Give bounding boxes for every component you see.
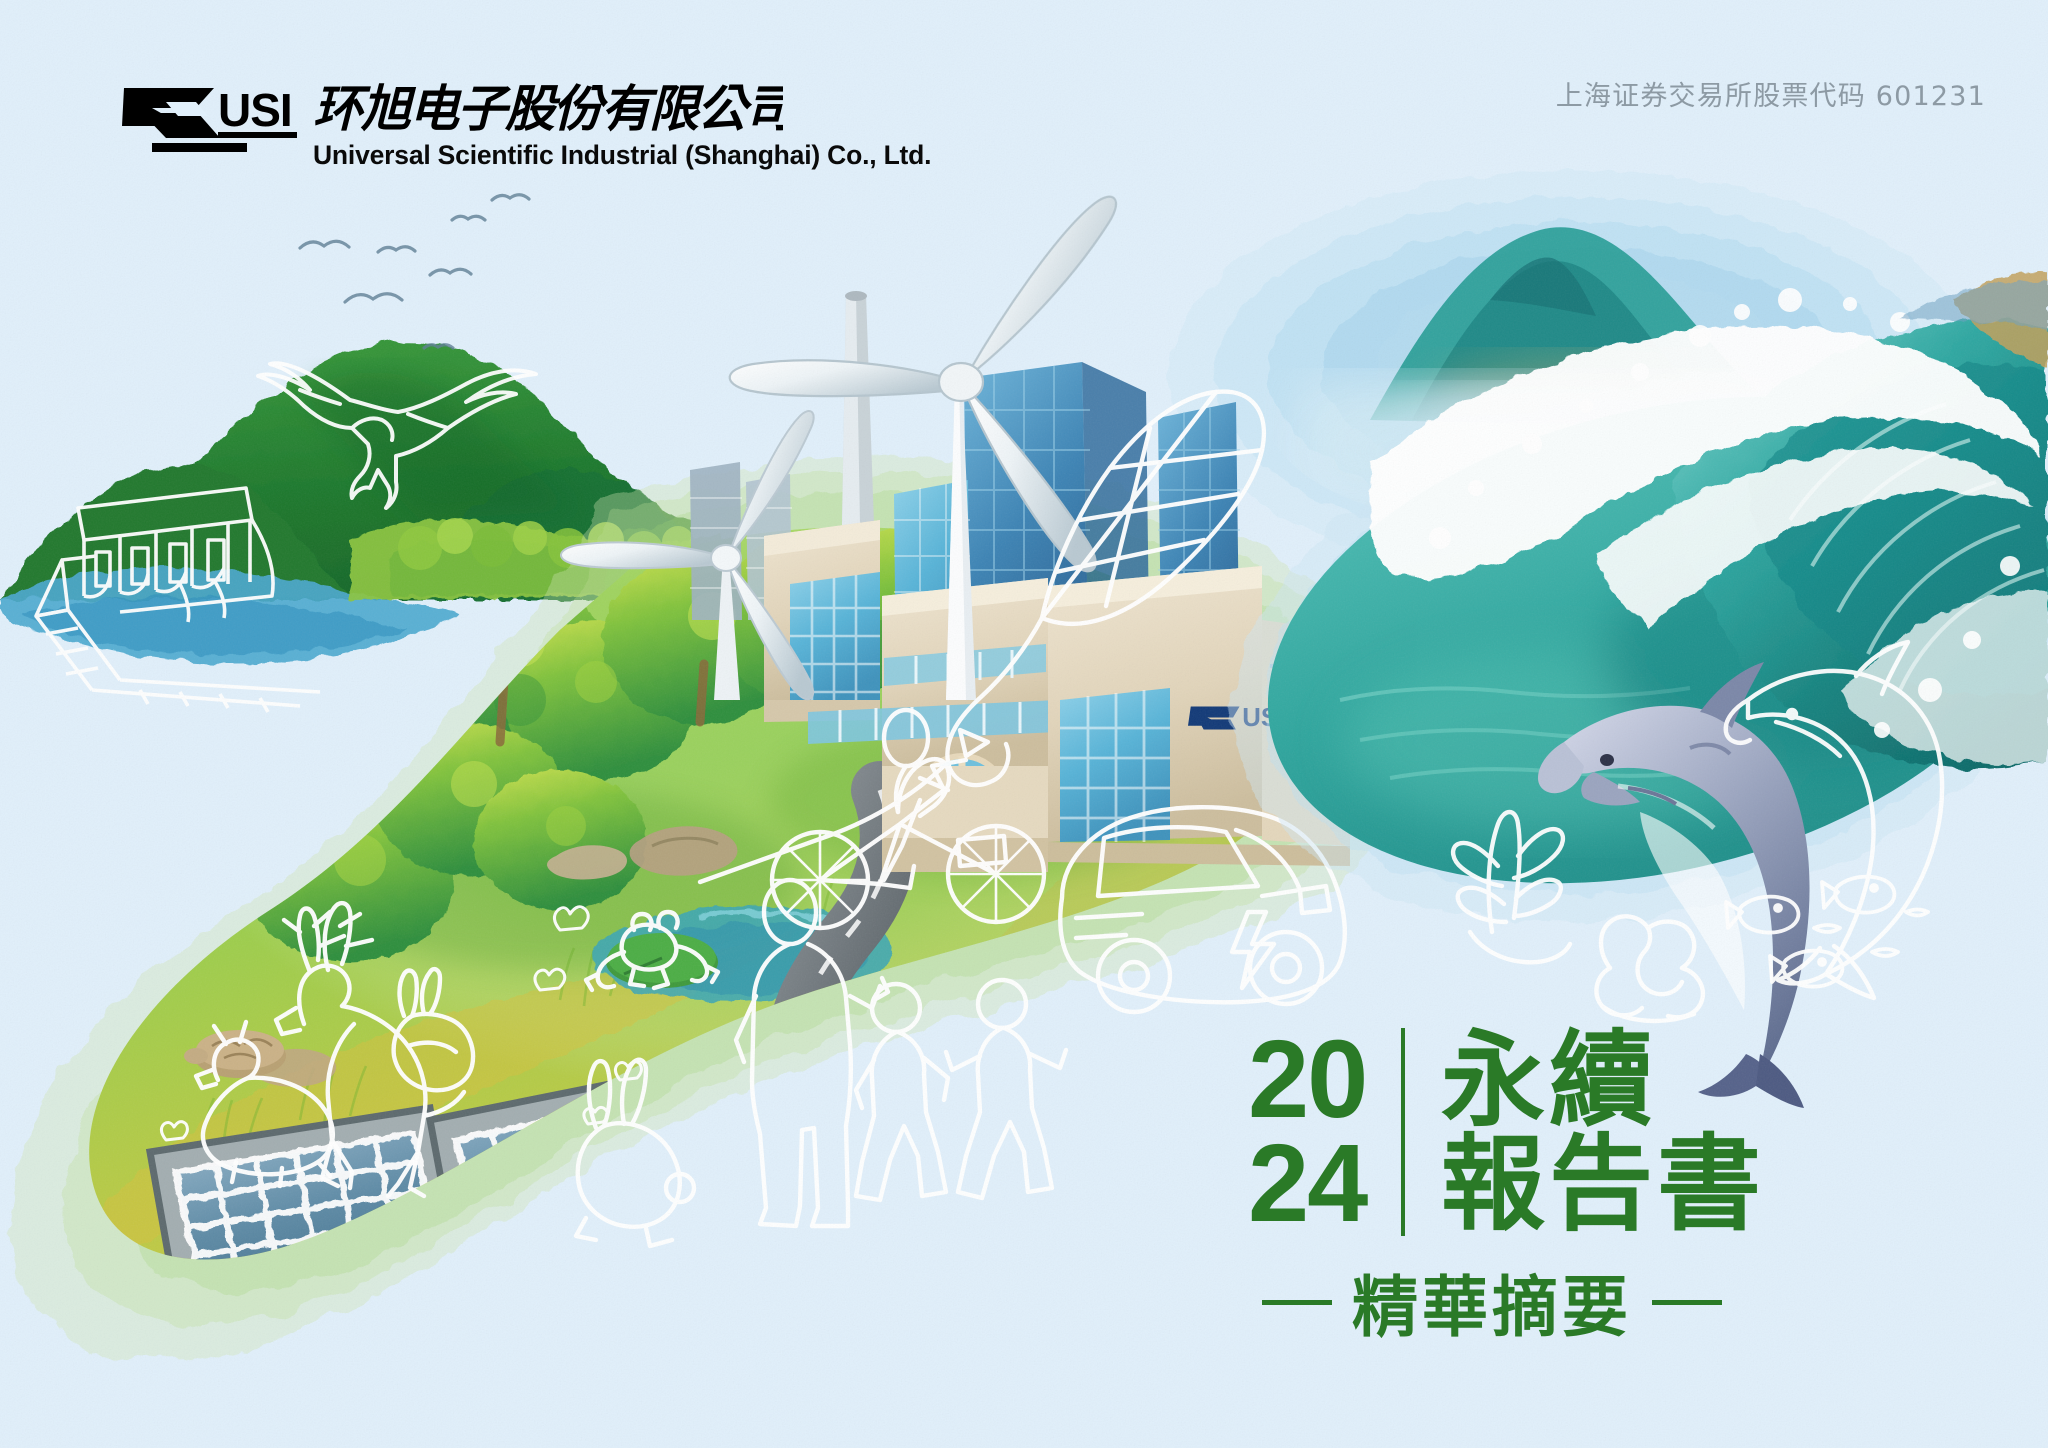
title-line-1: 永續 xyxy=(1441,1028,1657,1132)
title-line-2: 報告書 xyxy=(1441,1132,1765,1236)
usi-logo-mark: USI xyxy=(122,80,297,154)
company-name-cn: 环旭电子股份有限公司 xyxy=(313,76,783,138)
svg-text:USI: USI xyxy=(218,84,292,136)
title-divider-bottom xyxy=(1401,1132,1405,1236)
cover-header: USI 环旭电子股份有限公司 Universal Scientific Indu… xyxy=(0,0,2048,190)
usi-logo-lockup: USI 环旭电子股份有限公司 Universal Scientific Indu… xyxy=(122,80,931,171)
subtitle-text: 精華摘要 xyxy=(1352,1254,1632,1350)
title-row-top: 20 永續 xyxy=(1248,1028,1948,1132)
year-top: 20 xyxy=(1248,1029,1393,1130)
subtitle-dash-left xyxy=(1262,1300,1332,1305)
report-cover: USI xyxy=(0,0,2048,1448)
subtitle-row: 精華摘要 xyxy=(1248,1254,1948,1350)
subtitle-dash-right xyxy=(1652,1300,1722,1305)
year-bottom: 24 xyxy=(1248,1133,1393,1234)
company-name-en: Universal Scientific Industrial (Shangha… xyxy=(313,140,931,171)
stock-code-label: 上海证券交易所股票代码 601231 xyxy=(1556,74,1986,113)
title-divider-top xyxy=(1401,1028,1405,1132)
svg-text:环旭电子股份有限公司: 环旭电子股份有限公司 xyxy=(313,80,783,138)
report-title-block: 20 永續 24 報告書 精華摘要 xyxy=(1248,1028,1948,1350)
title-row-bottom: 24 報告書 xyxy=(1248,1132,1948,1236)
